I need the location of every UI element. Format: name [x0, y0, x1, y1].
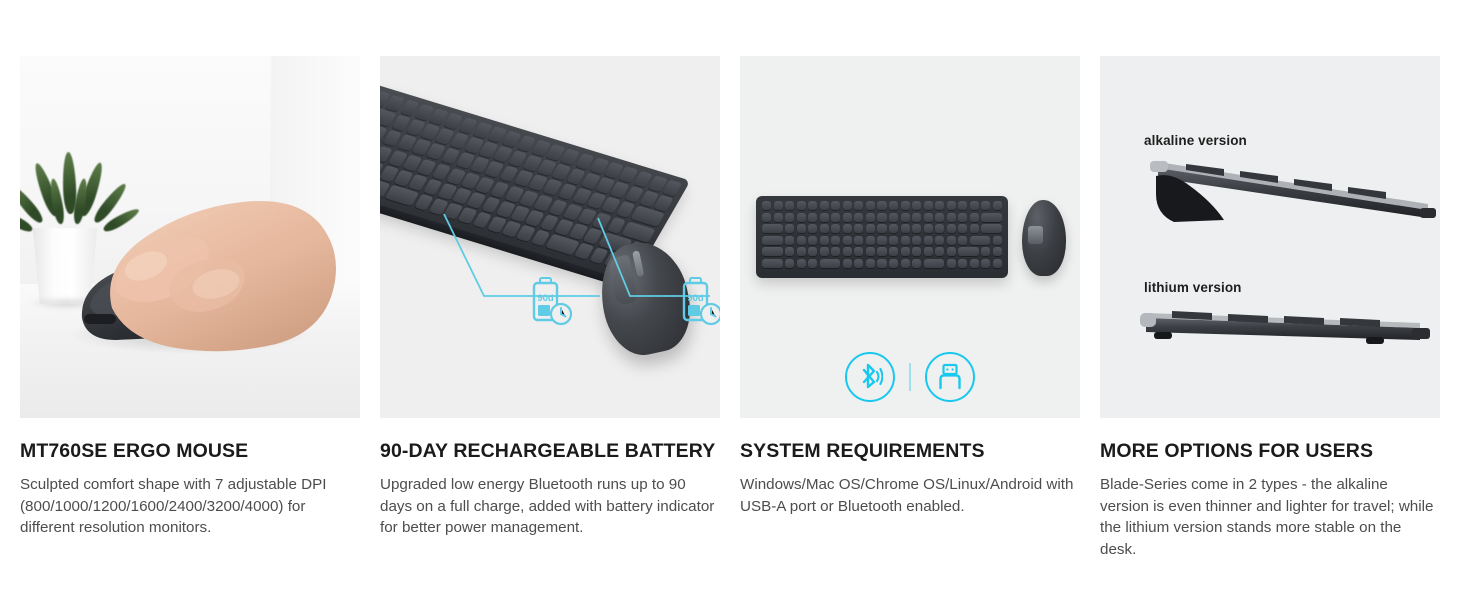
- keycap: [808, 236, 817, 245]
- keycap: [889, 224, 898, 233]
- keycap: [877, 201, 886, 210]
- keycap: [993, 201, 1002, 210]
- keycap: [924, 236, 933, 245]
- keycap: [947, 224, 956, 233]
- keycap: [877, 224, 886, 233]
- usb-a-icon: [925, 352, 975, 402]
- keycap: [866, 213, 875, 222]
- keycap: [785, 201, 794, 210]
- keycap: [889, 259, 898, 268]
- keycap: [774, 213, 783, 222]
- battery-callouts: 90d 90d: [380, 56, 720, 418]
- feature-image-rechargeable-battery: 90d 90d 90d: [380, 56, 720, 418]
- keycap: [981, 213, 1002, 222]
- keycap: [935, 213, 944, 222]
- keycap: [820, 259, 841, 268]
- keycap: [970, 201, 979, 210]
- keycap: [924, 247, 933, 256]
- keycap: [901, 213, 910, 222]
- keycap: [877, 259, 886, 268]
- keycap: [947, 201, 956, 210]
- keycap: [912, 224, 921, 233]
- keycap: [901, 201, 910, 210]
- feature-description: Windows/Mac OS/Chrome OS/Linux/Android w…: [740, 474, 1080, 517]
- feature-image-more-options: alkaline version: [1100, 56, 1440, 418]
- keycap: [924, 224, 933, 233]
- keycap: [854, 247, 863, 256]
- keycap: [808, 259, 817, 268]
- keycap: [820, 236, 829, 245]
- keycap: [854, 224, 863, 233]
- keycap: [820, 224, 829, 233]
- keycap: [785, 213, 794, 222]
- keycap: [762, 259, 783, 268]
- svg-text:90d: 90d: [537, 293, 554, 304]
- keycap: [866, 201, 875, 210]
- keyboard-flat: [756, 196, 1008, 278]
- keycap: [958, 236, 967, 245]
- keycap: [831, 213, 840, 222]
- keycap: [831, 224, 840, 233]
- keycap: [762, 247, 783, 256]
- keycap: [924, 201, 933, 210]
- keycap: [820, 201, 829, 210]
- keycap: [831, 236, 840, 245]
- keycap: [889, 247, 898, 256]
- keycap: [970, 259, 979, 268]
- keyboard-profile-lithium: [1128, 304, 1440, 358]
- keycap: [970, 213, 979, 222]
- keycap: [947, 236, 956, 245]
- battery-clock-icon: 90d: [684, 278, 720, 324]
- feature-card-ergo-mouse: MT760SE ERGO MOUSE Sculpted comfort shap…: [20, 56, 360, 560]
- bluetooth-icon: [845, 352, 895, 402]
- keycap: [785, 224, 794, 233]
- feature-grid: MT760SE ERGO MOUSE Sculpted comfort shap…: [20, 56, 1440, 560]
- keycap: [958, 213, 967, 222]
- keycap: [935, 224, 944, 233]
- keycap: [762, 236, 783, 245]
- icon-divider: [909, 363, 911, 391]
- keycap: [843, 224, 852, 233]
- feature-title: SYSTEM REQUIREMENTS: [740, 440, 1080, 463]
- keycap: [762, 201, 771, 210]
- keycap: [912, 247, 921, 256]
- keycap: [808, 213, 817, 222]
- keycap: [877, 236, 886, 245]
- keycap: [854, 201, 863, 210]
- keycap: [831, 201, 840, 210]
- keycap: [970, 224, 979, 233]
- keycap: [947, 259, 956, 268]
- feature-description: Upgraded low energy Bluetooth runs up to…: [380, 474, 720, 539]
- keycap: [901, 224, 910, 233]
- keycap: [993, 236, 1002, 245]
- hand-and-mouse-photo: [20, 56, 360, 418]
- keycap: [912, 259, 921, 268]
- keycap: [843, 259, 852, 268]
- keycap: [843, 213, 852, 222]
- keycap: [901, 247, 910, 256]
- keycap: [912, 201, 921, 210]
- alkaline-version-label: alkaline version: [1144, 133, 1247, 148]
- keycap: [854, 259, 863, 268]
- keycap: [797, 213, 806, 222]
- compatibility-icons: [740, 352, 1080, 402]
- keycap: [866, 247, 875, 256]
- keycap: [843, 236, 852, 245]
- svg-text:90d: 90d: [687, 293, 704, 304]
- keycap: [820, 213, 829, 222]
- keycap: [924, 213, 933, 222]
- keycap: [797, 247, 806, 256]
- keyboard-profile-alkaline: [1128, 152, 1440, 238]
- keycap: [877, 247, 886, 256]
- keycap: [785, 259, 794, 268]
- feature-image-system-requirements: [740, 56, 1080, 418]
- keycap: [797, 224, 806, 233]
- keycap: [958, 247, 979, 256]
- feature-description: Blade-Series come in 2 types - the alkal…: [1100, 474, 1440, 560]
- keycap: [981, 259, 990, 268]
- keycap: [935, 236, 944, 245]
- keycap: [924, 259, 945, 268]
- keycap: [808, 224, 817, 233]
- keycap: [981, 224, 1002, 233]
- keycap: [912, 213, 921, 222]
- keycap: [901, 259, 910, 268]
- keycap: [866, 236, 875, 245]
- keycap: [889, 201, 898, 210]
- feature-card-rechargeable-battery: 90d 90d 90d 90-DAY RECHARGEABLE BATTERY …: [380, 56, 720, 560]
- keycap: [877, 213, 886, 222]
- keycap: [981, 247, 990, 256]
- keycap: [866, 224, 875, 233]
- keycap: [808, 201, 817, 210]
- keycap: [797, 259, 806, 268]
- keycap: [774, 201, 783, 210]
- keycap: [843, 201, 852, 210]
- feature-caption: SYSTEM REQUIREMENTS Windows/Mac OS/Chrom…: [740, 418, 1080, 517]
- keycap: [970, 236, 991, 245]
- battery-clock-icon: 90d: [534, 278, 571, 324]
- keycap: [981, 201, 990, 210]
- keycap: [762, 224, 783, 233]
- feature-title: MORE OPTIONS FOR USERS: [1100, 440, 1440, 463]
- keycap: [958, 259, 967, 268]
- feature-caption: MT760SE ERGO MOUSE Sculpted comfort shap…: [20, 418, 360, 539]
- feature-caption: 90-DAY RECHARGEABLE BATTERY Upgraded low…: [380, 418, 720, 539]
- keycap: [797, 201, 806, 210]
- keycap: [993, 259, 1002, 268]
- feature-description: Sculpted comfort shape with 7 adjustable…: [20, 474, 360, 539]
- keycap: [912, 236, 921, 245]
- keycap: [901, 236, 910, 245]
- keycap: [958, 224, 967, 233]
- keycap: [889, 213, 898, 222]
- feature-title: 90-DAY RECHARGEABLE BATTERY: [380, 440, 720, 463]
- keycap: [785, 236, 794, 245]
- lithium-version-label: lithium version: [1144, 280, 1242, 295]
- keycap: [866, 259, 875, 268]
- keycap: [889, 236, 898, 245]
- keycap: [843, 247, 852, 256]
- keycap: [854, 236, 863, 245]
- feature-card-system-requirements: SYSTEM REQUIREMENTS Windows/Mac OS/Chrom…: [740, 56, 1080, 560]
- mouse-top-view: [1022, 200, 1066, 276]
- keycap: [947, 213, 956, 222]
- keycap: [935, 201, 944, 210]
- keycap: [797, 236, 806, 245]
- keycap: [808, 247, 817, 256]
- keycap: [935, 247, 944, 256]
- keycap: [854, 213, 863, 222]
- keycap: [958, 201, 967, 210]
- keyboard-keys: [762, 201, 1002, 268]
- feature-caption: MORE OPTIONS FOR USERS Blade-Series come…: [1100, 418, 1440, 560]
- feature-image-ergo-mouse: [20, 56, 360, 418]
- keycap: [762, 213, 771, 222]
- keycap: [820, 247, 829, 256]
- keycap: [947, 247, 956, 256]
- feature-card-more-options: alkaline version: [1100, 56, 1440, 560]
- keycap: [785, 247, 794, 256]
- keycap: [993, 247, 1002, 256]
- feature-title: MT760SE ERGO MOUSE: [20, 440, 360, 463]
- keycap: [831, 247, 840, 256]
